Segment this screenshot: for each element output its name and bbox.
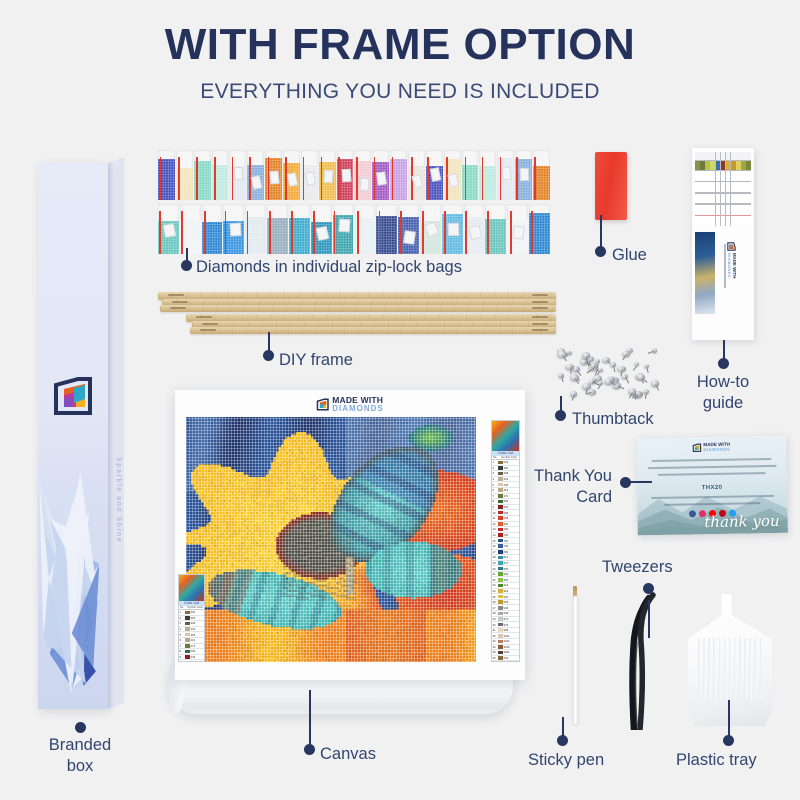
guide-table-cell — [695, 161, 700, 170]
color-list-swatch — [498, 640, 503, 644]
ziplock-bag — [497, 150, 514, 200]
label-howto-guide: How-to guide — [648, 372, 798, 414]
color-list-row-number: 3 — [180, 621, 185, 625]
ziplock-bag — [420, 204, 441, 254]
page-title: WITH FRAME OPTION — [0, 22, 800, 68]
guide-table-cell — [695, 193, 700, 204]
ziplock-bag-row-top — [158, 150, 550, 200]
color-list-row-number: 4 — [493, 477, 498, 481]
color-list-code: 976 — [504, 623, 509, 627]
bag-seal — [291, 211, 293, 254]
glue-pack — [595, 152, 627, 220]
thumbtack-pin — [647, 366, 650, 373]
bag-seal — [214, 157, 216, 200]
guide-table-cell — [705, 204, 710, 215]
sticky-pen — [569, 586, 581, 726]
guide-table-cell — [731, 193, 736, 204]
color-list-swatch — [498, 567, 503, 571]
color-list-row-number: 27 — [493, 606, 498, 610]
bag-seal — [510, 211, 512, 254]
color-list-code: 338 — [504, 471, 509, 475]
color-list-swatch — [498, 600, 503, 604]
color-list-code: 932 — [504, 595, 509, 599]
guide-table-cell — [736, 181, 741, 192]
color-list-code: 814 — [504, 555, 509, 559]
bag-label-tag — [305, 172, 316, 186]
thumbtack — [637, 374, 644, 380]
tray-rib — [724, 638, 727, 700]
thumbtack — [644, 364, 649, 368]
bag-diamond-fill — [245, 217, 266, 254]
color-list-swatch — [185, 622, 190, 626]
color-list-code: 700 — [504, 527, 509, 531]
color-list-swatch — [498, 516, 503, 520]
color-list-swatch — [498, 645, 503, 649]
color-list-column-header: No — [493, 456, 500, 459]
canvas-brand-line2: DIAMONDS — [332, 405, 384, 413]
color-list-row-number: 31 — [493, 628, 498, 632]
color-list-code: 948 — [504, 611, 509, 615]
color-list-swatch — [498, 584, 503, 588]
ziplock-bag — [180, 204, 201, 254]
frame-stick-notch — [532, 307, 548, 309]
bag-seal — [516, 157, 518, 200]
thumbtack-pin — [562, 354, 567, 361]
guide-table-cell — [736, 161, 741, 170]
ziplock-bag — [442, 204, 463, 254]
label-canvas: Canvas — [320, 744, 376, 765]
guide-table-cell — [705, 170, 710, 181]
guide-table-cell — [746, 170, 751, 181]
guide-table-cell — [716, 170, 721, 181]
label-sticky-pen: Sticky pen — [528, 750, 604, 771]
color-list-swatch — [498, 494, 503, 498]
guide-table-cell — [700, 170, 705, 181]
color-list-row-number: 9 — [493, 505, 498, 509]
leader-line-tray — [728, 700, 730, 738]
guide-table-cell — [736, 204, 741, 215]
thank-you-card: MADE WITH DIAMONDS THX20 thank you — [636, 436, 788, 536]
bag-seal — [357, 211, 359, 254]
color-list-swatch — [498, 488, 503, 492]
label-diamonds: Diamonds in individual zip-lock bags — [196, 257, 462, 278]
box-tagline: Sparkle and Shine — [115, 457, 122, 543]
thumbtack-pin — [645, 392, 647, 399]
frame-stick-notch — [172, 301, 188, 303]
connector-dot-tweezers — [643, 583, 654, 594]
card-text-line — [651, 495, 774, 499]
color-list-row-number: 14 — [493, 533, 498, 537]
color-list-code: 445 — [504, 483, 509, 487]
bag-seal — [204, 211, 206, 254]
guide-table-cell — [721, 215, 726, 226]
color-list-row-number: 17 — [493, 550, 498, 554]
color-list-row-number: 20 — [493, 567, 498, 571]
diamond-logo-icon — [692, 443, 701, 452]
box-brand-text: MADE WITHDIAMONDS — [38, 183, 108, 223]
guide-table-cell — [705, 215, 710, 226]
connector-dot-diamonds — [181, 260, 192, 271]
color-list-swatch — [498, 589, 503, 593]
tray-rib — [729, 638, 732, 700]
bag-label-tag — [404, 230, 416, 244]
ziplock-bag — [354, 204, 375, 254]
bag-seal — [247, 211, 249, 254]
color-list-code: 445 — [191, 633, 196, 637]
color-list-code: 730 — [504, 539, 509, 543]
color-list-code: 472 — [191, 644, 196, 648]
guide-table-cell — [710, 193, 715, 204]
color-list-thumbnail — [179, 575, 204, 601]
color-list-row-number: 26 — [493, 600, 498, 604]
thumbtack-pin — [570, 367, 572, 374]
guide-subtitle-line — [724, 244, 726, 288]
color-list-code: 413 — [191, 638, 196, 642]
color-list-row-number: 13 — [493, 527, 498, 531]
bag-seal — [338, 157, 340, 200]
thumbtack — [595, 359, 600, 363]
color-list-row-number: 28 — [493, 611, 498, 615]
color-list-row-number: 18 — [493, 555, 498, 559]
bag-label-tag — [338, 218, 350, 232]
ziplock-bag — [354, 150, 371, 200]
guide-table-cell — [741, 161, 746, 170]
ziplock-bag — [515, 150, 532, 200]
connector-dot-howto — [718, 358, 729, 369]
guide-table-cell — [695, 152, 700, 160]
color-list-row: 37300 — [492, 661, 519, 662]
guide-table-cell — [700, 181, 705, 192]
tray-rib — [713, 638, 716, 700]
guide-table-cell — [731, 181, 736, 192]
color-list-left: Color ListNoSymbolColor16322300333844345… — [178, 574, 205, 662]
card-text-line — [647, 465, 776, 469]
frame-stick-notch — [532, 329, 548, 331]
connector-dot-tray — [723, 735, 734, 746]
ziplock-bag-row-bottom — [158, 204, 550, 254]
thumbtack — [588, 389, 595, 395]
guide-table-cell — [741, 215, 746, 226]
color-list-row-number: 29 — [493, 617, 498, 621]
ziplock-bag — [426, 150, 443, 200]
guide-table-cell — [741, 204, 746, 215]
color-list-swatch — [498, 483, 503, 487]
color-list-code: 505 — [504, 499, 509, 503]
guide-table-cell — [700, 204, 705, 215]
color-list-row-number: 5 — [493, 483, 498, 487]
guide-table-cell — [721, 204, 726, 215]
guide-table-cell — [726, 215, 731, 226]
ziplock-bag — [533, 150, 550, 200]
tray-rib — [703, 638, 706, 700]
color-list-row-number: 2 — [180, 616, 185, 620]
color-list-row-number: 7 — [493, 494, 498, 498]
label-tweezers: Tweezers — [602, 557, 673, 578]
frame-stick — [190, 327, 556, 334]
ziplock-bag — [158, 150, 175, 200]
color-list-row-number: 8 — [493, 499, 498, 503]
bag-label-tag — [270, 171, 280, 185]
color-list-code: 900 — [504, 572, 509, 576]
color-list-swatch — [498, 595, 503, 599]
color-list-code: 608 — [504, 516, 509, 520]
color-list-row-number: 24 — [493, 589, 498, 593]
color-list-code: 800 — [504, 550, 509, 554]
color-list-swatch — [498, 466, 503, 470]
color-list-column-header: Symbol — [501, 456, 510, 459]
thumbtack — [602, 357, 610, 363]
branded-box: Sparkle and Shine MADE WITHDIAMONDS — [38, 157, 124, 712]
guide-table-cell — [736, 215, 741, 226]
guide-color-chart-table — [695, 152, 751, 226]
thumbtack — [565, 364, 573, 370]
tray-rib — [708, 638, 711, 700]
thumbtack — [652, 348, 658, 352]
bag-label-tag — [513, 226, 525, 240]
guide-table-cell — [731, 152, 736, 160]
tray-rib — [749, 638, 752, 700]
color-list-code: 938 — [504, 600, 509, 604]
guide-table-cell — [716, 193, 721, 204]
guide-table-cell — [726, 181, 731, 192]
guide-table-cell — [716, 204, 721, 215]
guide-photo-strip — [695, 232, 715, 314]
color-list-swatch — [498, 572, 503, 576]
ziplock-bag — [507, 204, 528, 254]
thumbtack — [557, 351, 566, 358]
color-list-right: Color ListNoSymbolColor16322300333844345… — [491, 420, 520, 662]
tray-rib — [734, 638, 737, 700]
guide-table-cell — [700, 161, 705, 170]
guide-table-cell — [746, 204, 751, 215]
color-list-row-number: 8 — [180, 649, 185, 653]
color-list-code: 300 — [504, 466, 509, 470]
diamond-logo-icon — [727, 242, 736, 251]
frame-stick-notch — [196, 316, 212, 318]
color-list-swatch — [498, 556, 503, 560]
color-list-swatch — [498, 511, 503, 515]
tray-ribs — [698, 638, 762, 700]
color-list-column-header: Symbol — [187, 606, 196, 609]
header: WITH FRAME OPTION EVERYTHING YOU NEED IS… — [0, 0, 800, 104]
color-list-swatch — [185, 627, 190, 631]
label-branded-box-line1: Branded — [0, 735, 160, 756]
bag-seal — [534, 157, 536, 200]
guide-table-cell — [726, 193, 731, 204]
color-list-column-header: Color — [511, 456, 518, 459]
guide-table-cell — [695, 170, 700, 181]
color-list-code: 343 — [191, 655, 196, 659]
color-list-code: 505 — [191, 649, 196, 653]
color-list-row-number: 16 — [493, 544, 498, 548]
color-list-swatch — [498, 612, 503, 616]
guide-table-cell — [716, 181, 721, 192]
frame-stick-notch — [202, 323, 218, 325]
color-list-row-number: 23 — [493, 583, 498, 587]
bag-seal — [465, 211, 467, 254]
color-list-row-number: 6 — [180, 638, 185, 642]
page-subtitle: EVERYTHING YOU NEED IS INCLUDED — [0, 80, 800, 104]
color-list-code: 300 — [191, 616, 196, 620]
color-list-row-number: 33 — [493, 639, 498, 643]
color-list-swatch — [498, 505, 503, 509]
color-list-row-number: 19 — [493, 561, 498, 565]
card-brand-line2: DIAMONDS — [703, 447, 730, 452]
guide-table-cell — [726, 204, 731, 215]
color-list-swatch — [185, 644, 190, 648]
color-list-row-number: 34 — [493, 645, 498, 649]
ziplock-bag — [479, 150, 496, 200]
thumbtack — [582, 352, 590, 358]
thumbtack-pin — [613, 365, 616, 372]
color-list-code: 3021 — [504, 639, 510, 643]
guide-table-cell — [736, 152, 741, 160]
thumbtack-pile — [553, 348, 663, 400]
ziplock-bag — [398, 204, 419, 254]
label-diy-frame: DIY frame — [279, 350, 353, 371]
color-list-swatch — [498, 617, 503, 621]
label-branded-box-line2: box — [0, 756, 160, 777]
tray-rib — [760, 638, 763, 700]
guide-table-cell — [741, 152, 746, 160]
color-list-code: 3051 — [504, 650, 510, 654]
ziplock-bag — [212, 150, 229, 200]
canvas-brand-logo: MADE WITH DIAMONDS — [316, 396, 384, 413]
ziplock-bag — [462, 150, 479, 200]
card-brand-logo: MADE WITH DIAMONDS — [692, 443, 730, 453]
color-list-swatch — [185, 611, 190, 615]
color-list-code: 608 — [191, 661, 196, 662]
card-text-line — [658, 472, 766, 476]
bag-seal — [465, 157, 467, 200]
leader-line-glue — [600, 215, 602, 250]
ziplock-bag — [390, 150, 407, 200]
connector-dot-diy-frame — [263, 350, 274, 361]
bag-seal — [196, 157, 198, 200]
bag-seal — [444, 211, 446, 254]
guide-table-cell — [695, 181, 700, 192]
leader-line-canvas — [309, 690, 311, 748]
color-list-code: 972 — [504, 617, 509, 621]
thumbtack — [651, 380, 659, 386]
ziplock-bag — [229, 150, 246, 200]
bag-seal — [303, 157, 305, 200]
bag-seal — [321, 157, 323, 200]
connector-dot-branded-box — [75, 722, 86, 733]
color-list-code: 995 — [504, 628, 509, 632]
ziplock-bag — [333, 204, 354, 254]
guide-table-cell — [700, 152, 705, 160]
bag-seal — [225, 211, 227, 254]
ziplock-bag — [158, 204, 179, 254]
label-glue: Glue — [612, 245, 647, 266]
color-list-code: 740 — [504, 544, 509, 548]
color-list-row-number: 25 — [493, 595, 498, 599]
color-list-swatch — [498, 472, 503, 476]
color-list-swatch — [498, 522, 503, 526]
bag-seal — [160, 157, 162, 200]
color-list-code: 720 — [504, 533, 509, 537]
color-list-code: 913 — [504, 583, 509, 587]
bag-seal — [313, 211, 315, 254]
label-plastic-tray: Plastic tray — [676, 750, 757, 771]
guide-table-cell — [700, 193, 705, 204]
card-social-icon[interactable] — [689, 510, 696, 517]
ziplock-bag — [408, 150, 425, 200]
guide-table-cell — [716, 152, 721, 160]
label-branded-box: Branded box — [0, 735, 160, 777]
guide-table-cell — [710, 181, 715, 192]
guide-table-cell — [705, 161, 710, 170]
color-list-code: 413 — [504, 488, 509, 492]
guide-table-cell — [721, 161, 726, 170]
thumbtack — [617, 366, 625, 372]
bag-seal — [482, 157, 484, 200]
bag-label-tag — [234, 167, 244, 181]
bag-label-tag — [520, 168, 530, 181]
thumbtack-pin — [617, 386, 624, 390]
color-list-row-number: 6 — [493, 488, 498, 492]
color-list-swatch — [185, 638, 190, 642]
guide-table-cell — [731, 204, 736, 215]
ziplock-bag — [376, 204, 397, 254]
thumbtack — [598, 381, 603, 385]
guide-table-cell — [721, 152, 726, 160]
color-list-swatch — [185, 661, 190, 662]
color-list-swatch — [498, 606, 503, 610]
plastic-tray — [688, 594, 772, 726]
ziplock-bag — [301, 150, 318, 200]
guide-brand-mark: MADE WITHDIAMONDS — [722, 240, 750, 306]
guide-table-cell — [741, 170, 746, 181]
ziplock-bag — [289, 204, 310, 254]
color-list-swatch — [498, 651, 503, 655]
color-list-swatch — [498, 528, 503, 532]
guide-table-cell — [716, 161, 721, 170]
bag-seal — [232, 157, 234, 200]
color-list-swatch — [498, 578, 503, 582]
guide-table-cell — [746, 193, 751, 204]
pen-body — [573, 596, 578, 724]
bag-label-tag — [359, 177, 369, 191]
color-list-row-number: 36 — [493, 656, 498, 660]
card-text-line — [652, 458, 772, 462]
color-list-code: 847 — [504, 561, 509, 565]
box-front-panel: MADE WITHDIAMONDS — [38, 163, 108, 709]
box-side-panel: Sparkle and Shine — [108, 157, 124, 709]
color-list-code: 632 — [191, 610, 196, 614]
tray-rib — [719, 638, 722, 700]
ziplock-bag — [529, 204, 550, 254]
thumbtack — [610, 362, 616, 367]
ziplock-bag — [223, 204, 244, 254]
color-list-row-number: 12 — [493, 522, 498, 526]
color-list-row-number: 30 — [493, 623, 498, 627]
color-list-row-number: 4 — [180, 627, 185, 631]
bag-seal — [400, 211, 402, 254]
color-list-row-number: 22 — [493, 578, 498, 582]
bag-seal — [374, 157, 376, 200]
guide-table-cell — [695, 215, 700, 226]
guide-table-cell — [705, 193, 710, 204]
label-thumbtack: Thumbtack — [572, 409, 654, 430]
guide-table-cell — [721, 181, 726, 192]
color-list-code: 608 — [504, 511, 509, 515]
guide-table-cell — [705, 181, 710, 192]
color-list-code: 338 — [191, 621, 196, 625]
label-howto-line2: guide — [648, 393, 798, 414]
bag-seal — [159, 211, 161, 254]
